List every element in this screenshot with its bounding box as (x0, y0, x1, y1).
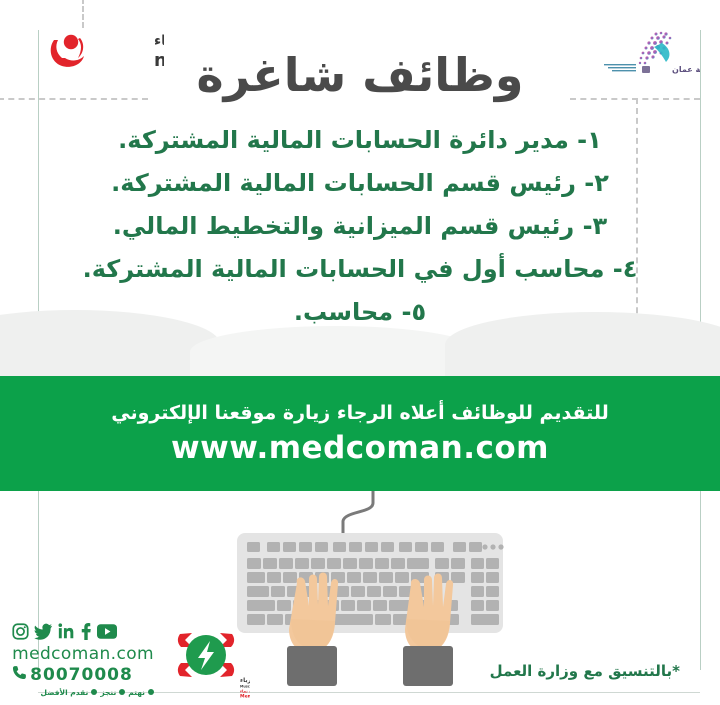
bullet-icon (119, 689, 125, 695)
list-item: ٢- رئيس قسم الحسابات المالية المشتركة. (60, 171, 660, 195)
linkedin-icon[interactable] (58, 623, 75, 644)
contact-details: medcoman.com 80070008 نهتم ننجز نقدم الأ… (8, 623, 154, 696)
list-item: ١- مدير دائرة الحسابات المالية المشتركة. (60, 128, 660, 152)
phone-icon (12, 665, 27, 686)
dashed-guide-top-right (570, 98, 700, 100)
bullet-icon (91, 689, 97, 695)
youtube-icon[interactable] (97, 624, 117, 643)
svg-text:Member of Nama Group: Member of Nama Group (240, 694, 250, 699)
phone-number: 80070008 (30, 666, 133, 686)
ministry-coordination-note: *بالتنسيق مع وزارة العمل (490, 662, 680, 680)
tagline-part: ننجز (100, 688, 116, 697)
job-list: ١- مدير دائرة الحسابات المالية المشتركة.… (60, 128, 660, 343)
job-vacancy-poster: نمـــاء nama (0, 0, 720, 705)
apply-banner: للتقديم للوظائف أعلاه الرجاء زيارة موقعن… (0, 376, 720, 491)
tagline-part: نهتم (128, 688, 145, 697)
keyboard-cable (343, 491, 373, 535)
list-item: ٤- محاسب أول في الحسابات المالية المشترك… (60, 257, 660, 281)
website-url[interactable]: www.medcoman.com (171, 430, 549, 466)
facebook-icon[interactable] (80, 623, 92, 644)
svg-text:شركة مسقط لتوزيع الكهرباء: شركة مسقط لتوزيع الكهرباء (240, 677, 250, 684)
footer-website[interactable]: medcoman.com (12, 645, 154, 665)
instagram-icon[interactable] (12, 623, 29, 644)
tagline-part: نقدم الأفضل (41, 688, 89, 697)
bullet-icon (148, 689, 154, 695)
list-item: ٥- محاسب. (60, 300, 660, 324)
keyboard-with-hands-illustration (225, 491, 515, 686)
medc-logo: شركة مسقط لتوزيع الكهرباء Muscat Electri… (162, 622, 250, 698)
dashed-guide-vertical-left (82, 0, 84, 28)
footer-contact-block: شركة مسقط لتوزيع الكهرباء Muscat Electri… (10, 621, 250, 699)
list-item: ٣- رئيس قسم الميزانية والتخطيط المالي. (60, 214, 660, 238)
left-sleeve (287, 646, 337, 686)
svg-text:نمـــاء: نمـــاء (154, 33, 164, 49)
social-icons-row (12, 623, 154, 644)
page-title: وظائف شاغرة (0, 52, 720, 98)
dashed-guide-top-left (0, 98, 148, 100)
apply-instruction-text: للتقديم للوظائف أعلاه الرجاء زيارة موقعن… (111, 402, 609, 424)
right-sleeve (403, 646, 453, 686)
twitter-icon[interactable] (34, 623, 53, 644)
company-tagline: نهتم ننجز نقدم الأفضل (12, 688, 154, 697)
footer-phone[interactable]: 80070008 (12, 665, 154, 686)
right-hand (403, 574, 453, 687)
